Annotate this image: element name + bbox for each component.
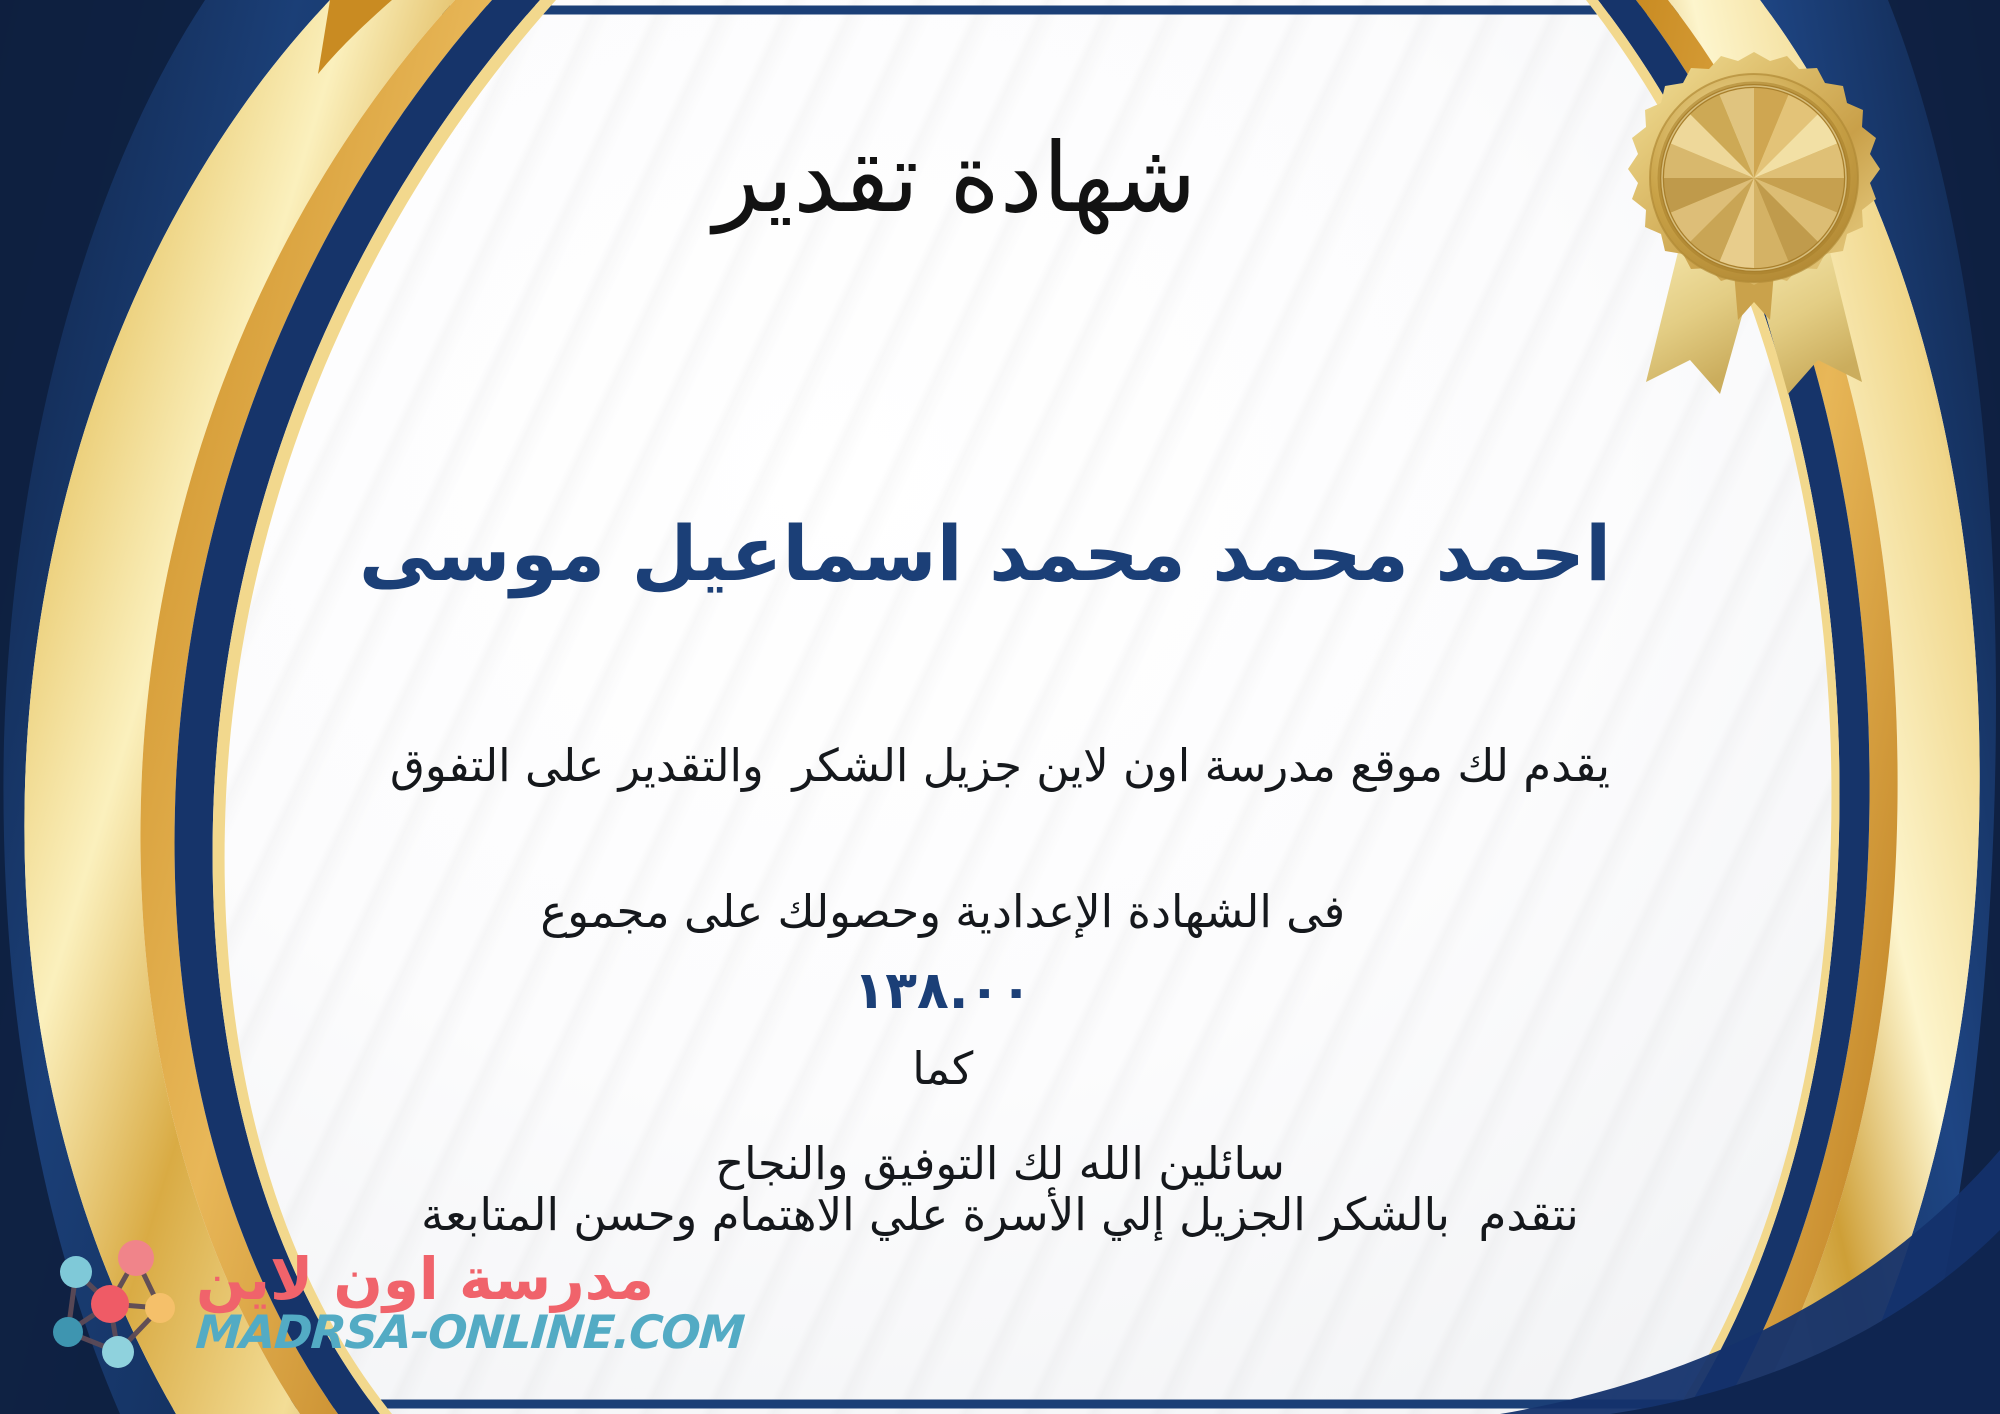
closing-line: سائلين الله لك التوفيق والنجاح <box>0 1130 2000 1198</box>
network-nodes-icon <box>32 1228 182 1378</box>
recipient-name: احمد محمد محمد اسماعيل موسى <box>0 510 2000 597</box>
certificate-content: شهادة تقدير احمد محمد محمد اسماعيل موسى … <box>0 0 2000 1414</box>
brand-arabic-name: مدرسة اون لاين <box>196 1250 654 1308</box>
body-line-2-prefix: فى الشهادة الإعدادية وحصولك على مجموع <box>540 885 1345 938</box>
body-line-1: يقدم لك موقع مدرسة اون لاين جزيل الشكر و… <box>60 730 1940 803</box>
certificate-canvas: شهادة تقدير احمد محمد محمد اسماعيل موسى … <box>0 0 2000 1414</box>
body-line-2: فى الشهادة الإعدادية وحصولك على مجموع ١٣… <box>60 803 1940 1179</box>
brand-domain: MADRSA-ONLINE.COM <box>194 1308 745 1356</box>
brand-logo[interactable]: مدرسة اون لاين MADRSA-ONLINE.COM <box>32 1228 743 1378</box>
page-title: شهادة تقدير <box>0 128 2000 229</box>
grade-value: ١٣٨.٠٠ <box>854 961 1032 1021</box>
body-line-2-suffix: كما <box>912 1042 973 1095</box>
brand-text: مدرسة اون لاين MADRSA-ONLINE.COM <box>196 1250 743 1356</box>
